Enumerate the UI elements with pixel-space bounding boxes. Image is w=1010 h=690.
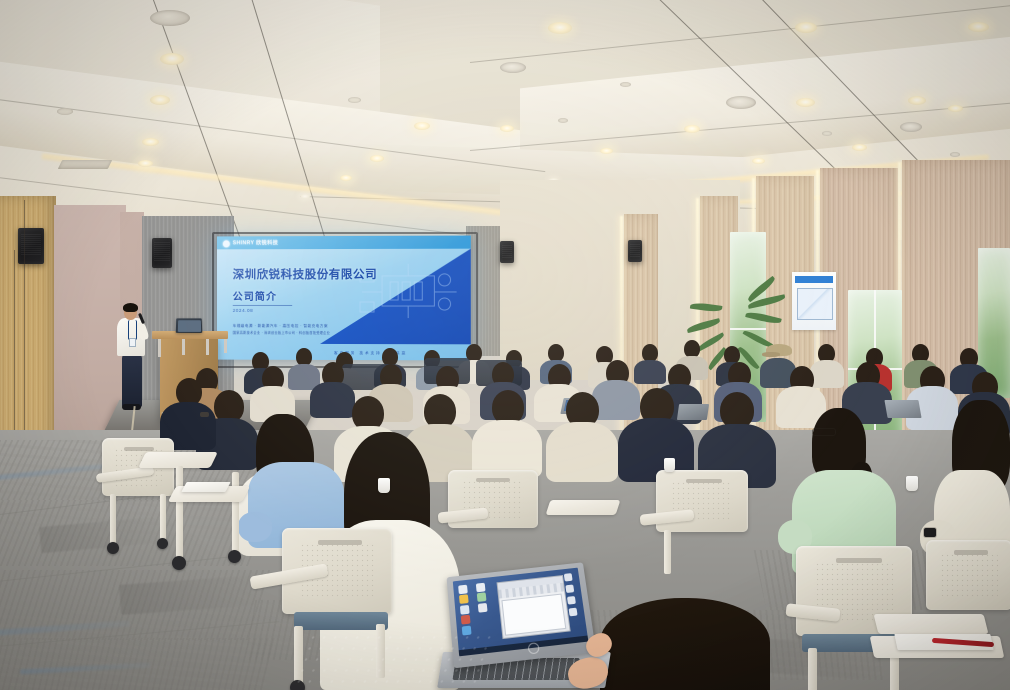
- ceiling-downlight: [160, 53, 184, 65]
- chair-handle-slot: [836, 558, 882, 563]
- chair-caster: [172, 556, 186, 570]
- chair-handle-slot: [954, 550, 988, 555]
- wall-speaker-right-b: [628, 240, 642, 262]
- chair-caster: [228, 550, 241, 563]
- desktop-icon[interactable]: [461, 615, 471, 625]
- projection-screen[interactable]: SHINRY 欣锐科技 深圳欣锐科技股份有限公司 公司简介 2024.08 车规…: [217, 236, 471, 361]
- wall-speaker-right-a: [500, 241, 514, 263]
- ceiling-downlight: [138, 160, 153, 167]
- ceiling-downlight: [340, 175, 352, 181]
- ceiling-downlight: [548, 22, 572, 34]
- wall-speaker-left: [18, 228, 44, 264]
- chair-caster: [107, 542, 119, 554]
- speaker-cable: [24, 200, 25, 460]
- plant-leaf: [745, 310, 782, 326]
- smoke-detector: [822, 131, 832, 136]
- attendee-laptop[interactable]: [677, 404, 709, 420]
- ceiling-downlight: [796, 98, 815, 107]
- desktop-icon[interactable]: [477, 592, 487, 602]
- ceiling-downlight: [968, 22, 989, 32]
- ceiling-downlight: [300, 194, 310, 199]
- desktop-icon[interactable]: [565, 584, 574, 593]
- ceiling-downlight: [414, 122, 430, 130]
- notebook-paper[interactable]: [181, 482, 230, 492]
- desktop-icon[interactable]: [460, 605, 470, 615]
- chair-leg: [232, 472, 239, 556]
- conference-room-scene: SHINRY 欣锐科技 深圳欣锐科技股份有限公司 公司简介 2024.08 车规…: [0, 0, 1010, 690]
- chair-handle-slot: [476, 478, 510, 482]
- slide-tagline-1: 车规级电源 · 新能源汽车 · 高压电控 · 智能充电方案: [233, 324, 328, 329]
- desktop-icon[interactable]: [478, 603, 488, 613]
- application-window[interactable]: [496, 575, 571, 639]
- hp-logo-icon: [527, 642, 539, 654]
- paper-cup[interactable]: [906, 476, 918, 491]
- smoke-detector: [57, 108, 73, 115]
- presenter-badge: [129, 338, 136, 347]
- wall-speaker-stage: [152, 238, 172, 268]
- ceiling-speaker: [150, 10, 190, 26]
- podium-leg: [182, 339, 185, 355]
- attendee-bottom-right: [600, 598, 770, 690]
- ceiling-downlight: [370, 155, 384, 162]
- chair-leg: [664, 530, 671, 574]
- attendee-wristband: [200, 412, 209, 417]
- attendee-glasses-icon: [812, 428, 836, 436]
- presenter-lanyard: [128, 320, 137, 340]
- slide-divider: [233, 305, 292, 306]
- podium-laptop[interactable]: [176, 318, 203, 333]
- slide-tagline-2: 国家高新技术企业 · 深圳创业板上市公司 · 科创板首批受理企业: [233, 330, 330, 335]
- desktop-icon[interactable]: [459, 594, 469, 604]
- podium-leg: [158, 339, 161, 357]
- chair-handle-slot: [124, 447, 154, 451]
- company-logo-text: SHINRY 欣锐科技: [233, 239, 278, 246]
- window-content-area[interactable]: [502, 594, 567, 636]
- ceiling-speaker: [500, 62, 526, 73]
- ceiling-downlight: [600, 148, 613, 154]
- chair-backrest: [926, 540, 1010, 610]
- attendee-cap-brim: [762, 352, 780, 357]
- chair-mid-right[interactable]: [640, 470, 760, 580]
- company-logo-icon: [223, 240, 230, 247]
- ceiling-downlight: [908, 96, 926, 105]
- chair-handle-slot: [318, 540, 362, 545]
- chair-writing-tablet[interactable]: [546, 500, 621, 515]
- attendee-torso: [810, 360, 844, 388]
- ceiling-downlight: [150, 95, 170, 105]
- chair-writing-tablet[interactable]: [874, 614, 989, 634]
- air-vent: [58, 160, 112, 169]
- ceiling-speaker: [726, 96, 756, 109]
- ceiling-downlight: [948, 105, 963, 112]
- paper-cup[interactable]: [378, 478, 390, 493]
- podium-leg: [224, 339, 227, 353]
- chair-far-right[interactable]: [926, 540, 1010, 690]
- paper-cup[interactable]: [664, 458, 675, 472]
- ceiling-speaker: [900, 122, 922, 132]
- slide-title: 深圳欣锐科技股份有限公司: [233, 266, 377, 282]
- ceiling-downlight: [752, 158, 765, 164]
- poster-chart: [797, 288, 833, 320]
- chair-mid-left[interactable]: [438, 470, 558, 580]
- smoke-detector: [348, 97, 361, 103]
- smartwatch-icon: [924, 528, 936, 537]
- desktop-icon[interactable]: [458, 584, 468, 594]
- desktop-icon[interactable]: [567, 596, 576, 605]
- smoke-detector: [950, 152, 960, 157]
- ceiling-downlight: [500, 125, 514, 132]
- poster-header-band: [795, 276, 833, 283]
- ceiling-downlight: [684, 125, 700, 133]
- chair-leg: [808, 648, 817, 690]
- chair-seat: [294, 612, 388, 630]
- chair-near-left-2[interactable]: [150, 452, 260, 602]
- foreground-desk-surface: [291, 632, 500, 690]
- podium-leg: [206, 339, 209, 355]
- slide-date: 2024.08: [233, 308, 254, 313]
- desktop-icon[interactable]: [476, 582, 486, 592]
- presenter-shoes: [122, 404, 141, 410]
- presenter-legs: [122, 353, 142, 407]
- presenter-hair: [123, 303, 138, 312]
- smoke-detector: [558, 118, 568, 123]
- desktop-icon[interactable]: [563, 573, 572, 581]
- smoke-detector: [620, 82, 631, 87]
- attendee-laptop[interactable]: [884, 400, 921, 418]
- ceiling-downlight: [852, 144, 867, 151]
- ceiling-downlight: [795, 22, 817, 33]
- slide-subtitle: 公司简介: [233, 288, 277, 303]
- desktop-icon[interactable]: [568, 608, 577, 617]
- attendee-torso: [592, 380, 640, 420]
- attendee-torso: [634, 360, 666, 384]
- chair-handle-slot: [686, 479, 722, 483]
- chair-leg: [176, 466, 183, 558]
- chair-perforation: [940, 553, 999, 599]
- ceiling-downlight: [142, 138, 159, 146]
- attendee-torso: [310, 382, 355, 418]
- wall-poster: [792, 272, 836, 330]
- chair-leg: [110, 494, 116, 546]
